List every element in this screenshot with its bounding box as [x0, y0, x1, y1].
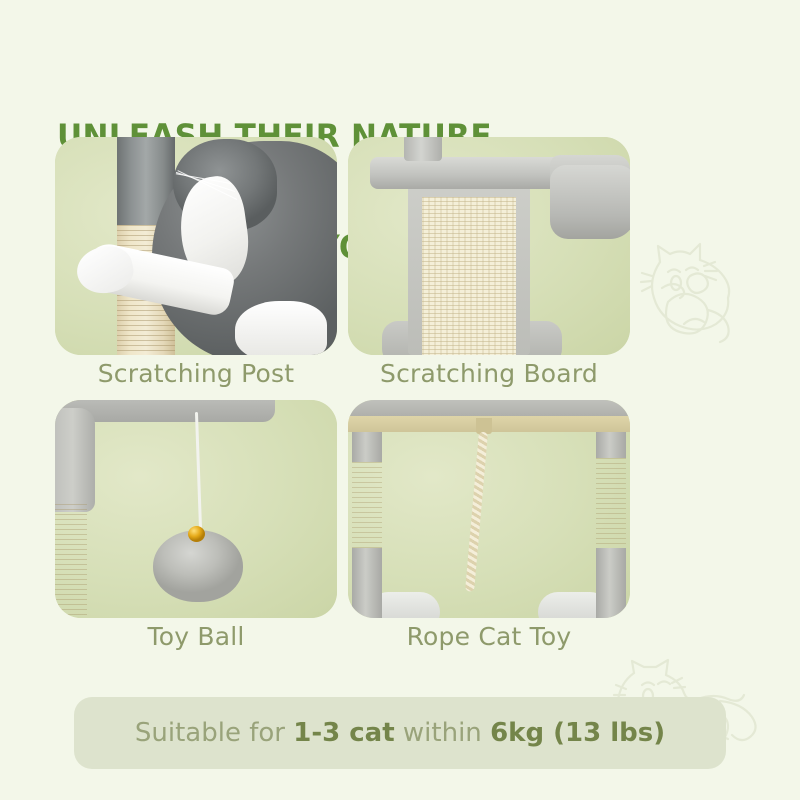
capacity-banner: Suitable for 1-3 cat within 6kg (13 lbs) [74, 697, 726, 769]
cat-tree-top-cylinder-graphic [404, 137, 442, 161]
photo-scratching-post [55, 137, 337, 355]
cat-tree-side-platform-graphic [550, 165, 630, 239]
feature-caption: Scratching Board [348, 355, 630, 393]
cat-tree-post-left-graphic [352, 428, 382, 618]
scratching-board-frame-graphic [408, 183, 530, 355]
capacity-cat-count: 1-3 cat [293, 718, 394, 748]
capacity-banner-text: Suitable for 1-3 cat within 6kg (13 lbs) [135, 717, 665, 749]
feature-caption: Toy Ball [55, 618, 337, 656]
toy-bell-graphic [188, 526, 205, 542]
cat-tree-shelf-graphic [370, 157, 570, 189]
feature-cell-scratching-board: Scratching Board [348, 137, 630, 393]
capacity-middle: within [395, 718, 490, 748]
feature-row-bottom: Toy Ball [55, 400, 630, 656]
cat-tree-post-right-graphic [596, 428, 626, 618]
cat-leg-graphic [235, 301, 327, 355]
photo-toy-ball [55, 400, 337, 618]
decorative-cat-outline-top-right [638, 236, 758, 356]
capacity-prefix: Suitable for [135, 718, 293, 748]
feature-caption: Scratching Post [55, 355, 337, 393]
cat-tree-corner-plush-graphic [55, 408, 95, 512]
feature-caption: Rope Cat Toy [348, 618, 630, 656]
feature-cell-scratching-post: Scratching Post [55, 137, 337, 393]
feature-row-top: Scratching Post Scratching Board [55, 137, 630, 393]
photo-scratching-board [348, 137, 630, 355]
feature-cell-toy-ball: Toy Ball [55, 400, 337, 656]
cat-tree-corner-sisal-graphic [55, 504, 87, 618]
sisal-board-graphic [422, 197, 516, 355]
photo-rope-cat-toy [348, 400, 630, 618]
feature-cell-rope-cat-toy: Rope Cat Toy [348, 400, 630, 656]
capacity-weight: 6kg (13 lbs) [490, 718, 665, 748]
feature-grid: Scratching Post Scratching Board [55, 137, 630, 656]
